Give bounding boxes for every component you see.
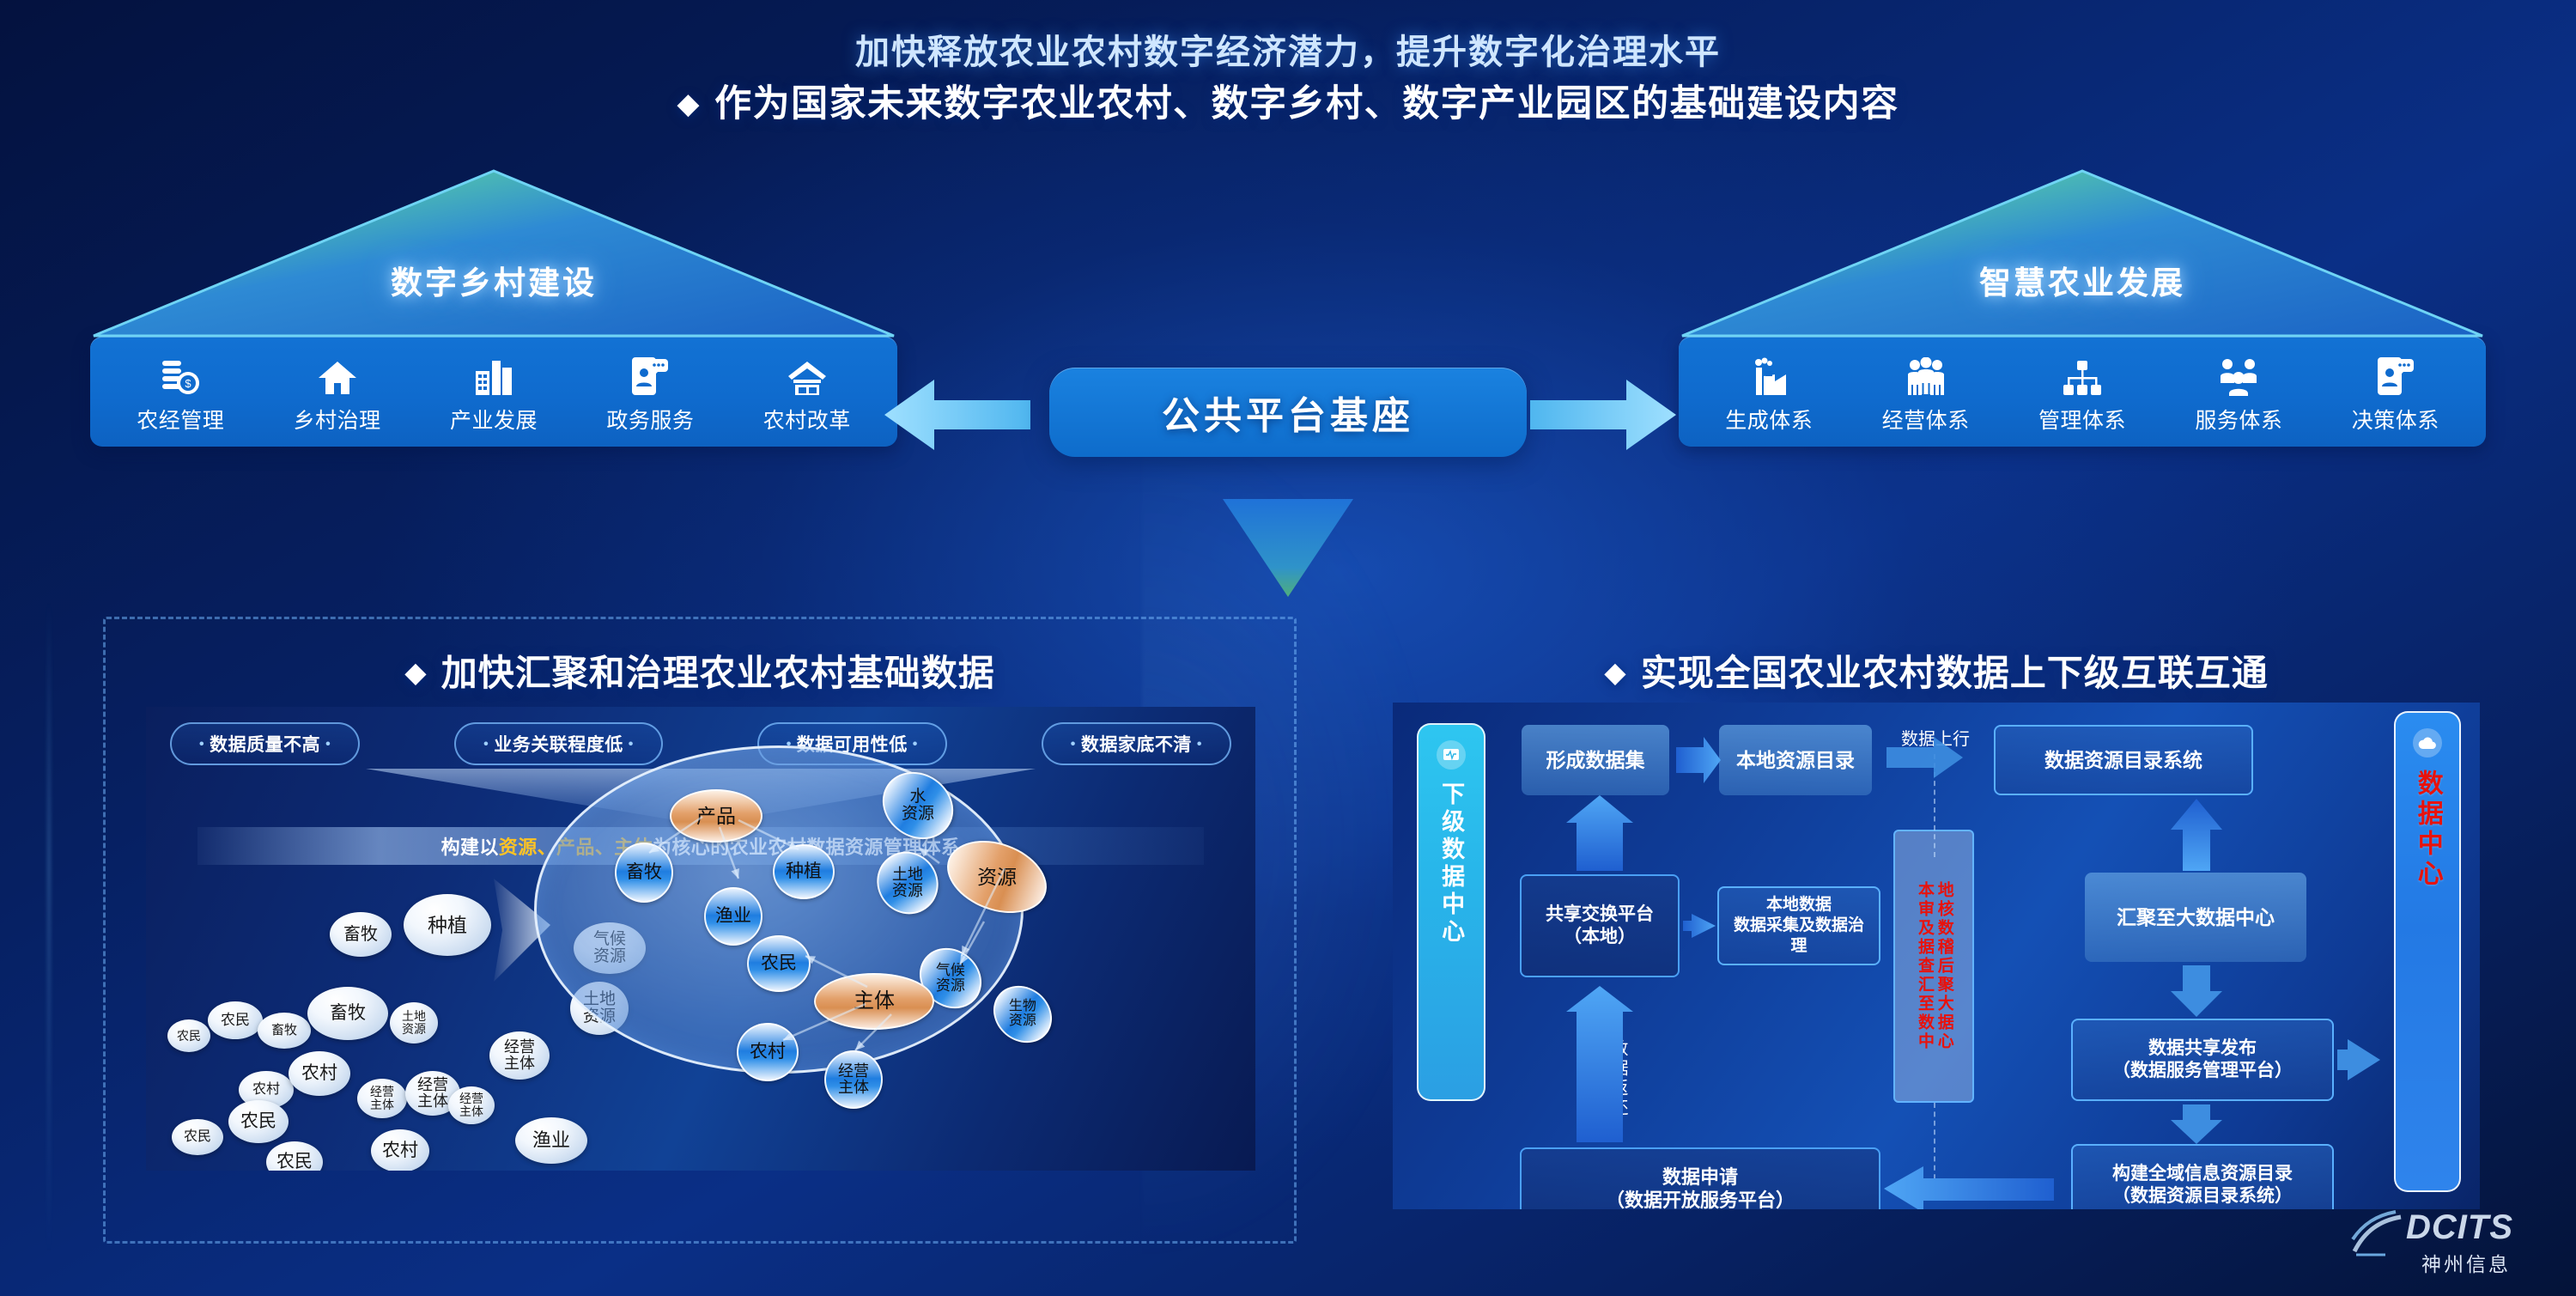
house-base-left: $ 农经管理 乡村治理 产业发展 政务服务 bbox=[90, 337, 897, 447]
governed-data-node-label: 土地 资源 bbox=[892, 867, 923, 899]
issue-pill-label: 数据质量不高 bbox=[210, 735, 320, 755]
bullet-dot-icon: • bbox=[1071, 737, 1076, 751]
governed-data-node: 种植 bbox=[773, 844, 835, 899]
bullet-dot-icon: • bbox=[325, 737, 331, 751]
raw-data-bubble: 农民 bbox=[266, 1141, 323, 1171]
diamond-bullet-icon: ◆ bbox=[1604, 656, 1626, 688]
governed-data-node-label: 水 资源 bbox=[902, 788, 934, 823]
governed-data-node: 畜牧 bbox=[615, 843, 673, 903]
governed-data-node-label: 经营 主体 bbox=[838, 1063, 869, 1096]
raw-data-bubble: 畜牧 bbox=[307, 987, 388, 1040]
panel-left-title: ◆加快汇聚和治理农业农村基础数据 bbox=[103, 644, 1297, 697]
bullet-dot-icon: • bbox=[483, 737, 489, 751]
right-flow-board: 下级数据中心 数据中心 形成数据集 本地资源目录 数据资源目录系统 共享交换平台… bbox=[1393, 703, 2480, 1209]
raw-data-bubble: 畜牧 bbox=[258, 1013, 311, 1049]
platform-label: 公共平台基座 bbox=[1162, 385, 1414, 440]
feature-label: 政务服务 bbox=[576, 404, 725, 435]
diamond-bullet-icon: ◆ bbox=[404, 656, 427, 688]
issue-pill-label: 业务关联程度低 bbox=[494, 735, 623, 755]
feature-cell[interactable]: 管理体系 bbox=[2008, 352, 2156, 435]
banner-prefix: 构建以 bbox=[441, 837, 499, 858]
governed-data-node: 渔业 bbox=[704, 887, 762, 946]
governed-data-node-label: 生物 资源 bbox=[1009, 1000, 1036, 1029]
coins-money-icon: $ bbox=[106, 352, 255, 397]
feature-cell[interactable]: 产业发展 bbox=[419, 352, 568, 435]
feature-cell[interactable]: 生成体系 bbox=[1695, 352, 1844, 435]
org-chart-icon bbox=[2008, 352, 2156, 397]
house-digital-village: 数字乡村建设 $ 农经管理 乡村治理 产业发展 bbox=[90, 167, 897, 447]
mobile-service-icon bbox=[576, 352, 725, 397]
raw-data-bubble: 渔业 bbox=[515, 1117, 587, 1164]
roof-right: 智慧农业发展 bbox=[1679, 167, 2486, 339]
feature-cell[interactable]: 政务服务 bbox=[576, 352, 725, 435]
raw-data-bubble: 经营 主体 bbox=[489, 1031, 550, 1080]
governed-data-node-label: 气候 资源 bbox=[936, 963, 965, 994]
feature-label: 农经管理 bbox=[106, 404, 255, 435]
raw-data-bubble: 畜牧 bbox=[330, 912, 392, 957]
feature-label: 产业发展 bbox=[419, 404, 568, 435]
bullet-dot-icon: • bbox=[199, 737, 204, 751]
raw-data-bubble: 农民 bbox=[228, 1100, 289, 1143]
home-icon bbox=[263, 352, 411, 397]
feature-label: 经营体系 bbox=[1851, 404, 2000, 435]
feature-label: 生成体系 bbox=[1695, 404, 1844, 435]
feature-label: 乡村治理 bbox=[263, 404, 411, 435]
governed-data-node-label: 种植 bbox=[786, 862, 822, 881]
governed-data-node: 主体 bbox=[814, 973, 934, 1030]
feature-cell[interactable]: $ 农经管理 bbox=[106, 352, 255, 435]
bullet-dot-icon: • bbox=[1197, 737, 1202, 751]
panel-right-title-text: 实现全国农业农村数据上下级互联互通 bbox=[1641, 653, 2269, 693]
feature-label: 服务体系 bbox=[2165, 404, 2313, 435]
feature-cell[interactable]: 乡村治理 bbox=[263, 352, 411, 435]
page-subheadline: ◆作为国家未来数字农业农村、数字乡村、数字产业园区的基础建设内容 bbox=[0, 74, 2576, 127]
service-people-icon bbox=[2165, 352, 2313, 397]
governed-data-node: 产品 bbox=[670, 789, 762, 843]
governed-data-node-label: 主体 bbox=[854, 990, 895, 1012]
issue-pill-label: 数据家底不清 bbox=[1081, 735, 1192, 755]
roof-label-left: 数字乡村建设 bbox=[90, 257, 897, 303]
governed-data-node: 经营 主体 bbox=[824, 1050, 883, 1109]
governed-data-node-label: 农民 bbox=[761, 954, 797, 973]
mobile-decision-icon bbox=[2321, 352, 2470, 397]
governed-data-node-label: 农村 bbox=[750, 1043, 786, 1062]
panel-data-aggregation: ◆加快汇聚和治理农业农村基础数据 •数据质量不高• •业务关联程度低• •数据可… bbox=[103, 617, 1297, 1244]
arrow-right-icon bbox=[1530, 376, 1676, 458]
platform-base-card[interactable]: 公共平台基座 bbox=[1049, 368, 1527, 457]
arrow-down-icon bbox=[1219, 468, 1357, 601]
company-logo: DCITS 神州信息 bbox=[2342, 1183, 2557, 1286]
svg-text:$: $ bbox=[185, 377, 192, 390]
panel-right-title: ◆实现全国农业农村数据上下级互联互通 bbox=[1357, 644, 2516, 697]
raw-data-bubble: 经营 主体 bbox=[448, 1086, 495, 1124]
feature-cell[interactable]: 农村改革 bbox=[732, 352, 881, 435]
raw-data-bubble: 农民 bbox=[208, 1001, 263, 1039]
rural-house-icon bbox=[732, 352, 881, 397]
decor-streak-left bbox=[47, 601, 51, 1254]
logo-cn-text: 神州信息 bbox=[2421, 1248, 2511, 1277]
left-artboard: •数据质量不高• •业务关联程度低• •数据可用性低• •数据家底不清• 构建以… bbox=[146, 707, 1255, 1171]
governed-data-node-label: 资源 bbox=[977, 867, 1017, 887]
governed-data-node: 农民 bbox=[747, 935, 811, 992]
panel-left-title-text: 加快汇聚和治理农业农村基础数据 bbox=[441, 653, 995, 693]
feature-label: 农村改革 bbox=[732, 404, 881, 435]
raw-data-bubble: 农民 bbox=[172, 1119, 223, 1155]
people-group-icon bbox=[1851, 352, 2000, 397]
issue-pill[interactable]: •业务关联程度低• bbox=[454, 722, 663, 765]
subheadline-text: 作为国家未来数字农业农村、数字乡村、数字产业园区的基础建设内容 bbox=[714, 83, 1899, 125]
house-base-right: 生成体系 经营体系 管理体系 服务体系 bbox=[1679, 337, 2486, 447]
buildings-icon bbox=[419, 352, 568, 397]
feature-cell[interactable]: 决策体系 bbox=[2321, 352, 2470, 435]
flow-arrow-layer bbox=[1393, 703, 2480, 1209]
raw-data-bubble: 土地 资源 bbox=[390, 1002, 438, 1043]
feature-label: 决策体系 bbox=[2321, 404, 2470, 435]
issue-pill[interactable]: •数据质量不高• bbox=[170, 722, 360, 765]
diamond-bullet-icon: ◆ bbox=[677, 88, 701, 120]
page-headline: 加快释放农业农村数字经济潜力，提升数字化治理水平 bbox=[0, 24, 2576, 74]
issue-pill[interactable]: •数据家底不清• bbox=[1042, 722, 1231, 765]
governed-data-node-label: 产品 bbox=[696, 806, 736, 826]
raw-data-bubble: 经营 主体 bbox=[357, 1079, 407, 1118]
feature-cell[interactable]: 经营体系 bbox=[1851, 352, 2000, 435]
raw-data-bubble: 种植 bbox=[404, 894, 491, 956]
raw-data-bubble: 农村 bbox=[371, 1129, 429, 1171]
feature-cell[interactable]: 服务体系 bbox=[2165, 352, 2313, 435]
slide-canvas: 加快释放农业农村数字经济潜力，提升数字化治理水平 ◆作为国家未来数字农业农村、数… bbox=[0, 0, 2576, 1296]
roof-left: 数字乡村建设 bbox=[90, 167, 897, 339]
governed-data-node-label: 畜牧 bbox=[626, 863, 662, 882]
factory-icon bbox=[1695, 352, 1844, 397]
house-smart-agriculture: 智慧农业发展 生成体系 经营体系 管理体系 bbox=[1679, 167, 2486, 447]
raw-data-bubble: 农村 bbox=[289, 1051, 350, 1096]
feature-label: 管理体系 bbox=[2008, 404, 2156, 435]
logo-mark-icon bbox=[2346, 1205, 2415, 1269]
roof-label-right: 智慧农业发展 bbox=[1679, 257, 2486, 303]
governed-data-node: 农村 bbox=[737, 1023, 799, 1081]
raw-data-bubble: 农民 bbox=[167, 1019, 210, 1052]
panel-data-interconnection: ◆实现全国农业农村数据上下级互联互通 下级数据中心 数据中心 形成数据集 本地资… bbox=[1357, 617, 2516, 1244]
bullet-dot-icon: • bbox=[913, 737, 918, 751]
bullet-dot-icon: • bbox=[629, 737, 634, 751]
governed-data-node-label: 渔业 bbox=[715, 907, 751, 926]
arrow-left-icon bbox=[884, 376, 1030, 458]
logo-brand-text: DCITS bbox=[2406, 1208, 2513, 1247]
